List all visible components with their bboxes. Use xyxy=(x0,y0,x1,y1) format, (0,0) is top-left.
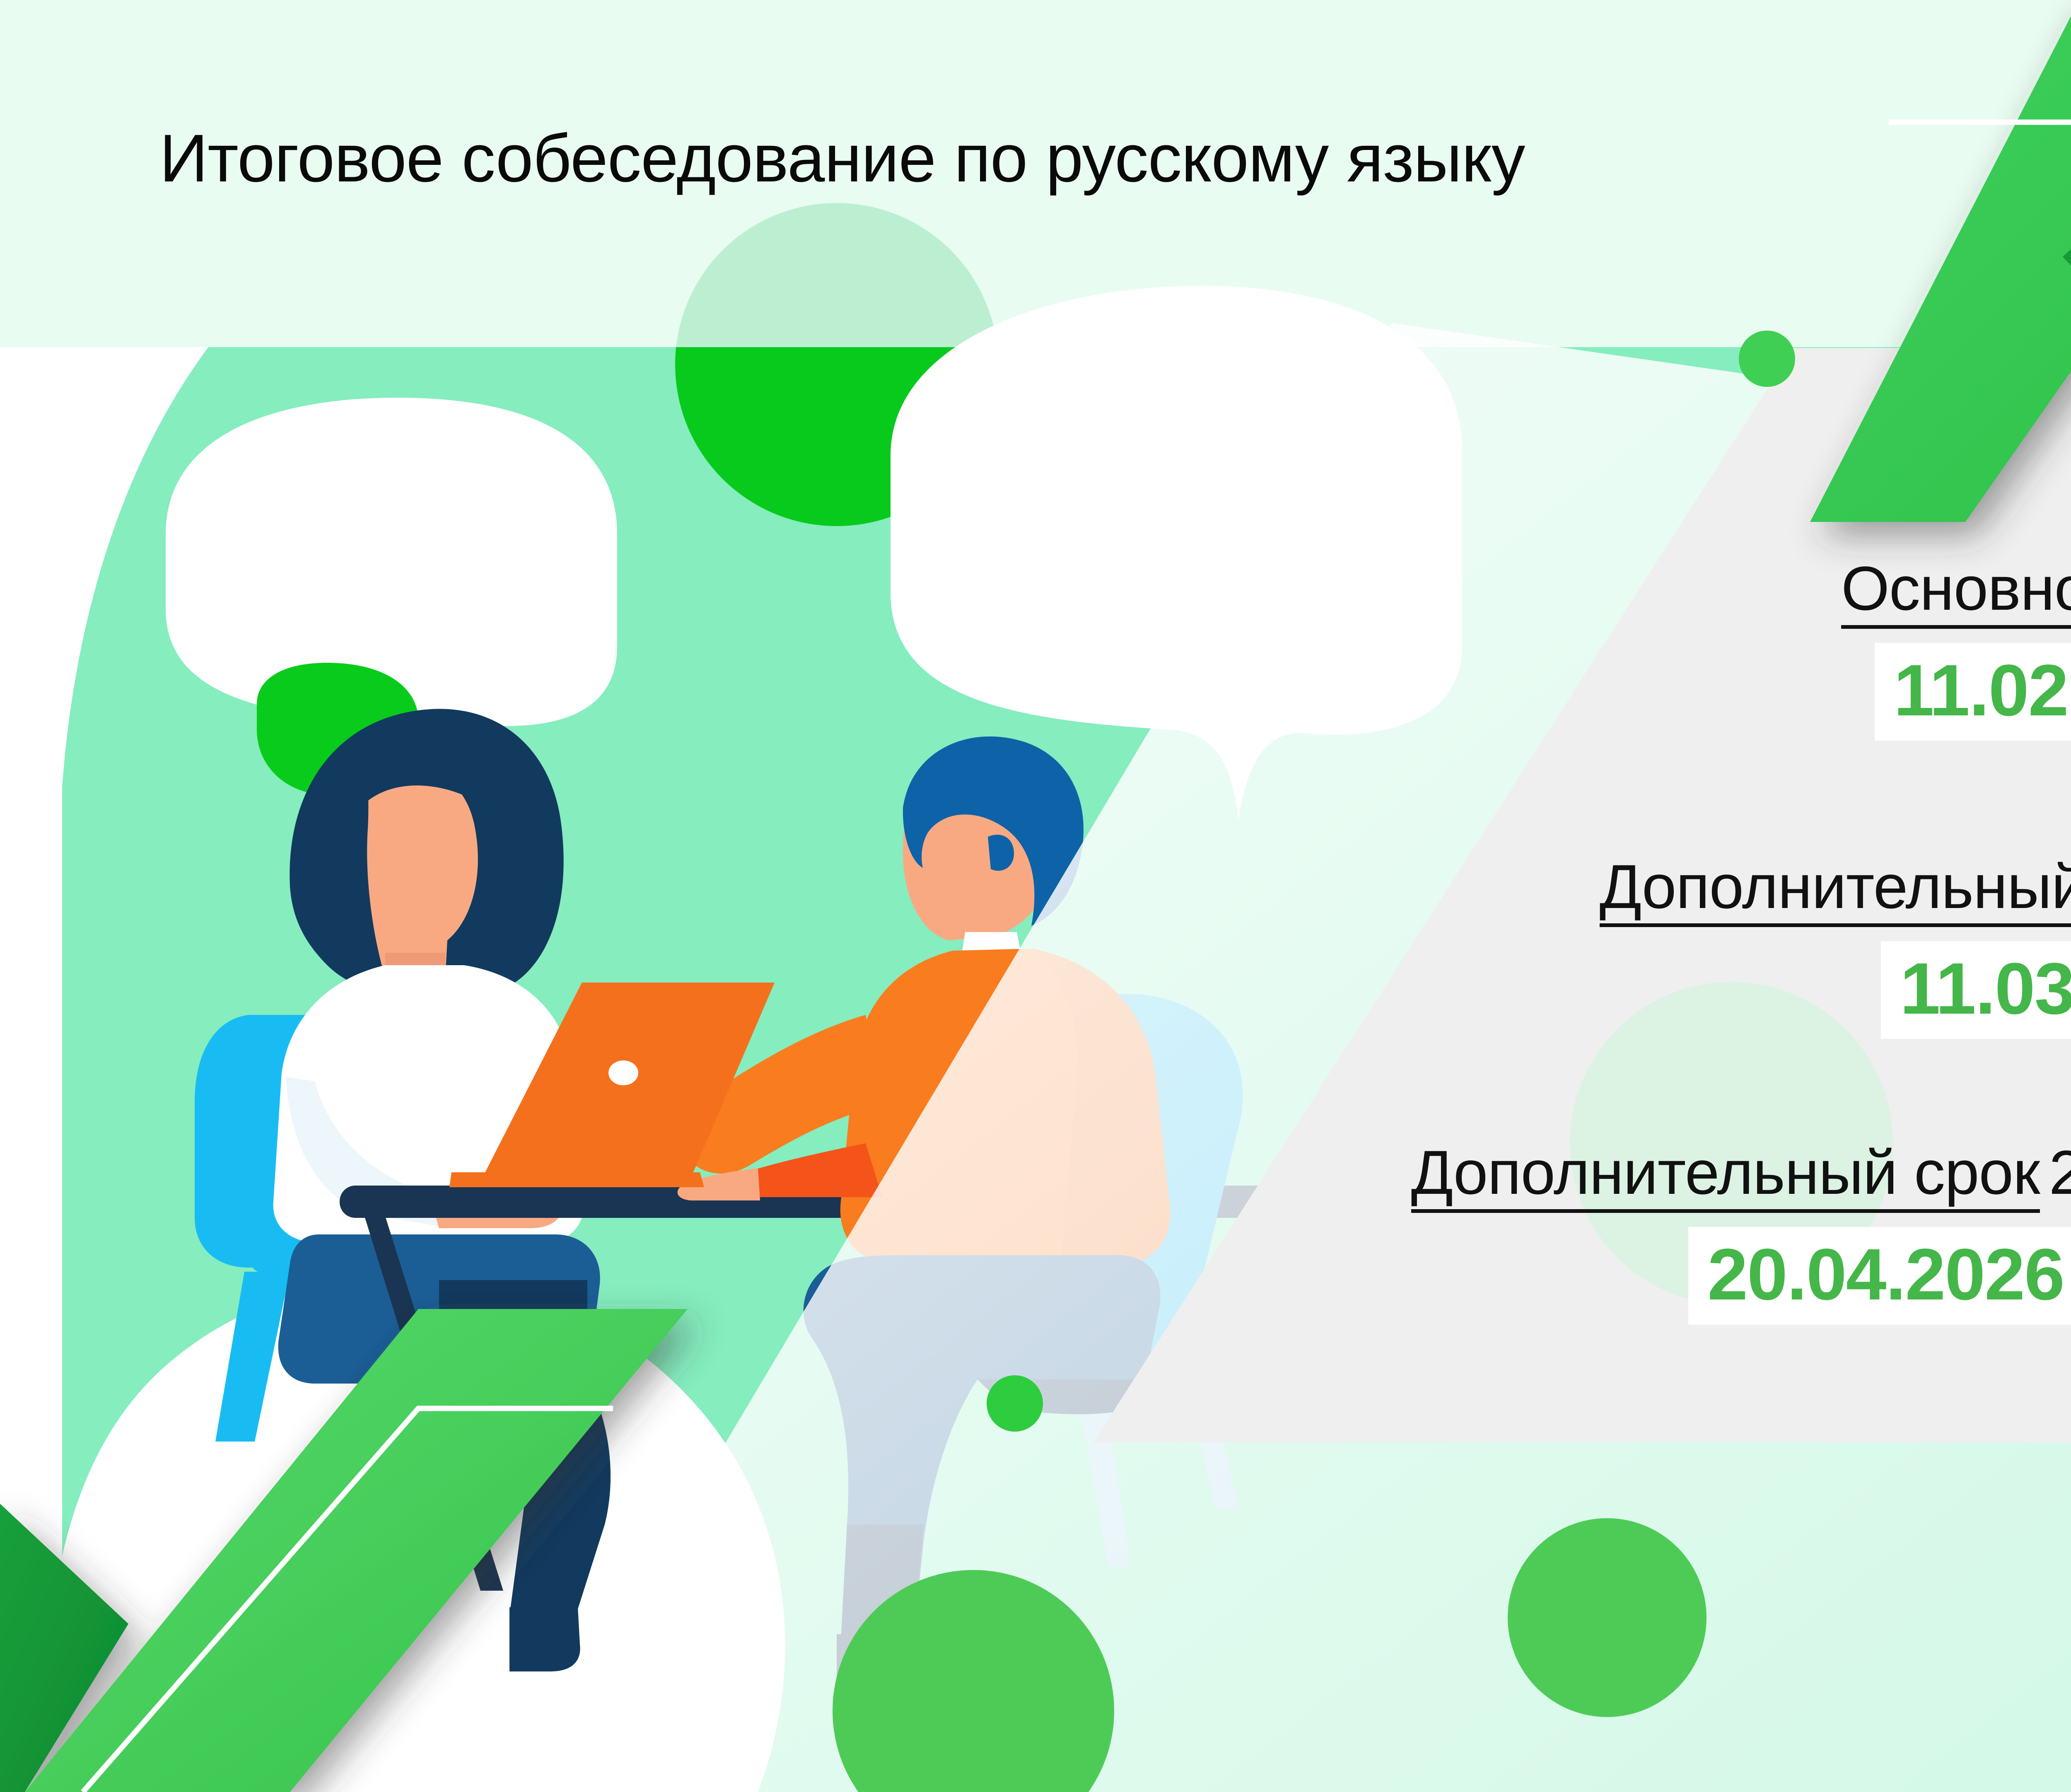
date-label-main-text: Основной срок xyxy=(1841,557,2071,629)
date-label-extra-2-number: 2 xyxy=(2040,1138,2071,1207)
date-value-extra-2-wrap: 20.04.2026 xyxy=(1411,1227,2071,1325)
page-title: Итоговое собеседование по русскому языку xyxy=(159,124,1525,192)
accent-circle-bottom-right xyxy=(1508,1518,1707,1717)
date-label-extra-2-text: Дополнительный срок xyxy=(1411,1141,2040,1213)
date-label-extra-1-text: Дополнительный срок xyxy=(1600,855,2071,927)
date-block-extra-1: Дополнительный срок1 11.03.2026 xyxy=(1600,855,2071,1039)
date-label-main: Основной срок xyxy=(1841,557,2071,629)
date-value-main: 11.02.2026 xyxy=(1875,643,2071,741)
poster-canvas: Итоговое собеседование по русскому языку… xyxy=(0,0,2071,1792)
date-value-extra-1: 11.03.2026 xyxy=(1881,941,2071,1039)
date-value-extra-1-wrap: 11.03.2026 xyxy=(1600,941,2071,1039)
date-value-extra-2: 20.04.2026 xyxy=(1688,1227,2071,1325)
date-label-extra-1: Дополнительный срок1 xyxy=(1600,855,2071,927)
accent-dot-chair xyxy=(987,1375,1043,1432)
date-block-extra-2: Дополнительный срок2 20.04.2026 xyxy=(1411,1141,2071,1325)
accent-dot-top xyxy=(1739,331,1795,387)
date-value-main-wrap: 11.02.2026 xyxy=(1841,643,2071,741)
date-label-extra-2: Дополнительный срок2 xyxy=(1411,1141,2071,1213)
date-block-main: Основной срок 11.02.2026 xyxy=(1841,557,2071,741)
